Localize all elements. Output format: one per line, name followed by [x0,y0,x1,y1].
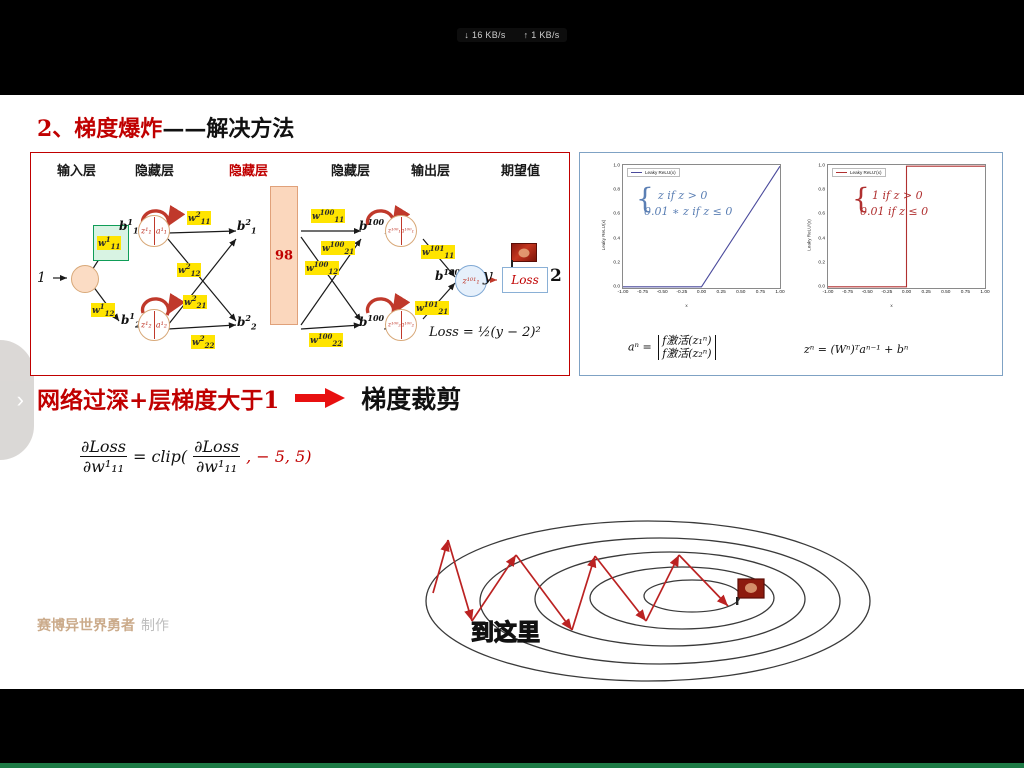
video-progress-fill [0,763,1024,768]
right-arrow-icon [293,387,347,409]
chart-ytick: 0.6 [818,212,825,217]
neuron-z-label: z¹₂ [141,321,152,330]
input-node [71,265,99,293]
weight-label-w2-22: w222 [191,335,215,349]
weight-label-w1-11: w111 [97,236,121,250]
chart-xtick: 0.00 [697,290,706,295]
activation-lhs: aⁿ = [628,341,652,354]
page-title-black: ——解决方法 [162,116,294,142]
skip-layers-box: 98 [270,186,298,325]
chevron-right-icon[interactable]: › [17,389,24,411]
conclusion-solution: 梯度裁剪 [361,380,461,416]
chart-xtick: 0.00 [902,290,911,295]
skip-layers-count: 98 [271,248,297,263]
chart-ytick: 0.8 [613,188,620,193]
neuron-hidden100-1: z¹⁰⁰₁ a¹⁰⁰₁ [385,215,417,247]
output-symbol: y [483,266,493,286]
page-title-red: 2、梯度爆炸 [37,116,162,142]
neuron-hidden1-2: z¹₂ a¹₂ [138,309,170,341]
chart-leaky-relu-derivative: Leaky ReLU'(x) Leaky ReLU'(x) 1.0 0.8 0.… [791,158,992,311]
conclusion-row: 网络过深+层梯度大于1 梯度裁剪 [37,380,461,416]
chart-ytick: 0.4 [613,236,620,241]
chart-xtick: 0.75 [961,290,970,295]
activation-chart-panel: Leaky ReLU(x) Leaky ReLU(x) 1.0 0.8 0.6 … [579,152,1003,376]
network-speed-pill: ↓ 16 KB/s ↑ 1 KB/s [457,28,566,42]
chart-leaky-relu: Leaky ReLU(x) Leaky ReLU(x) 1.0 0.8 0.6 … [586,158,787,311]
chart-xtick: 0.50 [941,290,950,295]
contour-svg [330,513,890,689]
neuron-a-label: a¹₁ [156,227,167,236]
chart-ytick: 0.8 [818,188,825,193]
clip-lhs-fraction: ∂Loss ∂w¹₁₁ [78,437,129,476]
weight-label-w2-11: w211 [187,211,211,225]
gradient-clip-formula: ∂Loss ∂w¹₁₁ = clip( ∂Loss ∂w¹₁₁ , − 5, 5… [78,437,312,476]
neuron-hidden100-2: z¹⁰⁰₂ a¹⁰⁰₂ [385,309,417,341]
preactivation-formula: zⁿ = (Wⁿ)ᵀaⁿ⁻¹ + bⁿ [804,343,908,357]
leaky-relu-case-1: z if z > 0 [658,189,707,203]
chart-plot-area: Leaky ReLU'(x) 1.0 0.8 0.6 0.4 0.2 0.0 -… [827,164,986,289]
watermark-author: 赛博异世界勇者 [37,618,135,634]
formula-row: aⁿ = f激活(z₁ⁿ) f激活(z₂ⁿ) zⁿ = (Wⁿ)ᵀaⁿ⁻¹ + … [580,323,1002,371]
conclusion-cause: 网络过深+层梯度大于1 [37,381,279,415]
chart-xtick: -0.25 [881,290,892,295]
weight-label-w100-22: w10022 [309,333,343,347]
chart-xtick: 1.00 [980,290,989,295]
loss-formula-text: Loss = ½(y − 2)² [429,325,541,340]
neuron-a-label: a¹⁰⁰₂ [401,322,414,329]
clip-lhs-denominator: ∂w¹₁₁ [80,456,127,476]
contour-descent-figure [330,513,890,689]
goal-flag-icon [736,579,764,605]
target-value: 2 [550,266,562,286]
bias-label-b2-2: b22 [237,313,257,331]
clip-operator: = clip( [133,447,187,466]
network-edges [31,153,569,375]
leaky-relu-case-2: 0.01 ∗ z if z ≤ 0 [644,205,732,219]
chart-xtick: -0.50 [657,290,668,295]
contour-ellipses [426,521,870,681]
weight-label-w101-11: w10111 [421,245,455,259]
bias-label-b2-1: b21 [237,217,257,235]
weight-label-w1-12: w112 [91,303,115,317]
weight-label-w2-21: w221 [183,295,207,309]
loss-box: Loss [502,267,548,293]
activation-row-1: f激活(z₁ⁿ) [662,335,711,348]
chart-ylabel: Leaky ReLU'(x) [806,219,811,251]
neuron-z-label: z¹⁰⁰₁ [388,228,401,235]
chart-ytick: 1.0 [818,164,825,169]
progress-note: 到这里 [471,613,540,647]
chart-ytick: 1.0 [613,164,620,169]
activation-row-2: f激活(z₂ⁿ) [662,348,711,361]
neuron-a-label: a¹⁰⁰₁ [401,228,414,235]
loss-formula: Loss = ½(y − 2)² [429,325,541,340]
chart-xtick: 0.50 [736,290,745,295]
watermark-suffix: 制作 [141,618,169,634]
chart-xtick: -0.75 [842,290,853,295]
clip-lhs-numerator: ∂Loss [78,437,129,456]
weight-label-w100-21: w10021 [321,241,355,255]
page-title: 2、梯度爆炸——解决方法 [37,111,294,143]
chart-xtick: -1.00 [823,290,834,295]
neuron-z-label: z¹₁ [141,227,152,236]
chart-ytick: 0.4 [818,236,825,241]
chart-xlabel: x [791,303,992,308]
chart-xtick: 1.00 [775,290,784,295]
clip-rhs-denominator: ∂w¹₁₁ [193,456,240,476]
chart-xtick: -0.25 [676,290,687,295]
input-value: 1 [37,270,46,286]
chart-xtick: -0.50 [862,290,873,295]
clip-bounds: , − 5, 5) [246,447,311,466]
watermark: 赛博异世界勇者制作 [37,615,169,635]
chart-ytick: 0.2 [613,260,620,265]
neural-network-panel: 输入层 隐藏层 隐藏层 隐藏层 输出层 期望值 [30,152,570,376]
chart-xtick: 0.75 [756,290,765,295]
weight-label-w101-21: w10121 [415,301,449,315]
chart-ytick: 0.6 [613,212,620,217]
activation-vector-formula: aⁿ = f激活(z₁ⁿ) f激活(z₂ⁿ) [628,335,716,360]
clip-rhs-numerator: ∂Loss [191,437,242,456]
bias-label-b1-1: b11 [119,217,139,235]
neuron-z-label: z¹⁰¹₁ [462,277,479,286]
chart-xtick: 0.25 [716,290,725,295]
neuron-z-label: z¹⁰⁰₂ [388,322,401,329]
video-player-screen: ↓ 16 KB/s ↑ 1 KB/s › 2、梯度爆炸——解决方法 输入层 隐藏… [0,0,1024,768]
weight-label-w100-11: w10011 [311,209,345,223]
chart-ytick: 0.0 [613,284,620,289]
chart-xlabel: x [586,303,787,308]
weight-label-w100-12: w10012 [305,261,339,275]
weight-label-w2-12: w212 [177,263,201,277]
target-flag-icon [511,243,537,262]
sidebar-drawer-handle[interactable]: › [0,340,34,460]
chart-ytick: 0.0 [818,284,825,289]
chart-xtick: 0.25 [921,290,930,295]
network-speed-overlay: ↓ 16 KB/s ↑ 1 KB/s [0,24,1024,46]
flag-emblem [519,248,530,257]
slide-canvas: › 2、梯度爆炸——解决方法 输入层 隐藏层 隐藏层 隐藏层 输出层 期望值 [0,95,1024,689]
chart-xtick: -1.00 [618,290,629,295]
leaky-relu-deriv-case-2: 0.01 if z ≤ 0 [860,205,928,219]
video-progress-bar[interactable] [0,763,1024,768]
neuron-hidden1-1: z¹₁ a¹₁ [138,215,170,247]
upload-speed: ↑ 1 KB/s [524,30,560,40]
chart-xtick: -0.75 [637,290,648,295]
download-speed: ↓ 16 KB/s [464,30,505,40]
neuron-a-label: a¹₂ [156,321,167,330]
chart-ylabel: Leaky ReLU(x) [601,219,606,250]
clip-rhs-fraction: ∂Loss ∂w¹₁₁ [191,437,242,476]
chart-ytick: 0.2 [818,260,825,265]
loss-label: Loss [511,273,539,287]
flag-pole [511,260,513,267]
leaky-relu-deriv-case-1: 1 if z > 0 [872,189,923,203]
